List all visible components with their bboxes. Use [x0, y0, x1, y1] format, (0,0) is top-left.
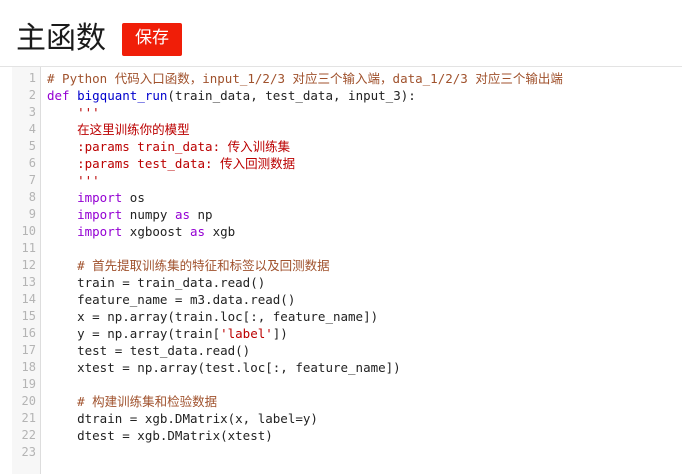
panel-header: 主函数 保存	[0, 0, 682, 66]
code-line[interactable]: test = test_data.read()	[47, 342, 682, 359]
line-number: 14	[12, 291, 36, 308]
code-token-string: :params train_data: 传入训练集	[47, 139, 290, 154]
code-token-comment: # 首先提取训练集的特征和标签以及回测数据	[47, 258, 330, 273]
code-line[interactable]	[47, 444, 682, 461]
code-line[interactable]: # 首先提取训练集的特征和标签以及回测数据	[47, 257, 682, 274]
code-line[interactable]: feature_name = m3.data.read()	[47, 291, 682, 308]
code-token-string: 在这里训练你的模型	[47, 122, 190, 137]
code-token-plain: test = test_data.read()	[47, 343, 250, 358]
code-token-plain: train = train_data.read()	[47, 275, 265, 290]
code-content[interactable]: # Python 代码入口函数，input_1/2/3 对应三个输入端，data…	[41, 67, 682, 474]
code-token-function: bigquant_run	[77, 88, 167, 103]
code-line[interactable]: import xgboost as xgb	[47, 223, 682, 240]
code-token-plain: (train_data, test_data, input_3):	[167, 88, 415, 103]
line-number: 10	[12, 223, 36, 240]
code-line[interactable]	[47, 240, 682, 257]
code-line[interactable]: train = train_data.read()	[47, 274, 682, 291]
code-token-plain: numpy	[130, 207, 175, 222]
code-line[interactable]: :params train_data: 传入训练集	[47, 138, 682, 155]
code-token-string: 'label'	[220, 326, 273, 341]
code-token-plain: xgboost	[130, 224, 190, 239]
line-number: 6	[12, 155, 36, 172]
page-title: 主函数	[16, 22, 106, 56]
line-number-gutter: 1234567891011121314151617181920212223	[12, 67, 41, 474]
code-line[interactable]: # Python 代码入口函数，input_1/2/3 对应三个输入端，data…	[47, 70, 682, 87]
code-token-plain: xgb	[213, 224, 236, 239]
code-token-keyword: import	[47, 190, 130, 205]
line-number: 23	[12, 444, 36, 461]
code-line[interactable]: dtest = xgb.DMatrix(xtest)	[47, 427, 682, 444]
line-number: 22	[12, 427, 36, 444]
code-token-keyword: import	[47, 224, 130, 239]
code-editor[interactable]: 1234567891011121314151617181920212223 # …	[0, 67, 682, 474]
line-number: 8	[12, 189, 36, 206]
code-token-comment: # Python 代码入口函数，input_1/2/3 对应三个输入端，data…	[47, 71, 563, 86]
line-number: 19	[12, 376, 36, 393]
code-token-string: :params test_data: 传入回测数据	[47, 156, 295, 171]
line-number: 17	[12, 342, 36, 359]
code-token-keyword: as	[175, 207, 198, 222]
line-number: 3	[12, 104, 36, 121]
code-line[interactable]: x = np.array(train.loc[:, feature_name])	[47, 308, 682, 325]
line-number: 4	[12, 121, 36, 138]
line-number: 20	[12, 393, 36, 410]
code-token-string: '''	[47, 173, 100, 188]
line-number: 16	[12, 325, 36, 342]
code-token-plain: np	[198, 207, 213, 222]
code-line[interactable]: # 构建训练集和检验数据	[47, 393, 682, 410]
code-editor-panel: 主函数 保存 123456789101112131415161718192021…	[0, 0, 682, 474]
code-line[interactable]	[47, 376, 682, 393]
line-number: 7	[12, 172, 36, 189]
code-token-plain: dtest = xgb.DMatrix(xtest)	[47, 428, 273, 443]
code-token-plain: x = np.array(train.loc[:, feature_name])	[47, 309, 378, 324]
code-token-plain: xtest = np.array(test.loc[:, feature_nam…	[47, 360, 401, 375]
line-number: 13	[12, 274, 36, 291]
code-line[interactable]: y = np.array(train['label'])	[47, 325, 682, 342]
line-number: 18	[12, 359, 36, 376]
line-number: 5	[12, 138, 36, 155]
code-line[interactable]: import os	[47, 189, 682, 206]
code-token-string: '''	[47, 105, 100, 120]
line-number: 11	[12, 240, 36, 257]
line-number: 15	[12, 308, 36, 325]
line-number: 2	[12, 87, 36, 104]
save-button[interactable]: 保存	[122, 23, 182, 56]
code-token-plain: os	[130, 190, 145, 205]
line-number: 21	[12, 410, 36, 427]
code-line[interactable]: import numpy as np	[47, 206, 682, 223]
code-token-plain: dtrain = xgb.DMatrix(x, label=y)	[47, 411, 318, 426]
code-token-keyword: import	[47, 207, 130, 222]
code-line[interactable]: xtest = np.array(test.loc[:, feature_nam…	[47, 359, 682, 376]
code-line[interactable]: '''	[47, 172, 682, 189]
code-token-plain: y = np.array(train[	[47, 326, 220, 341]
code-line[interactable]: def bigquant_run(train_data, test_data, …	[47, 87, 682, 104]
line-number: 9	[12, 206, 36, 223]
code-token-plain: ])	[273, 326, 288, 341]
code-token-plain: feature_name = m3.data.read()	[47, 292, 295, 307]
code-line[interactable]: :params test_data: 传入回测数据	[47, 155, 682, 172]
line-number: 12	[12, 257, 36, 274]
code-token-comment: # 构建训练集和检验数据	[47, 394, 217, 409]
code-line[interactable]: '''	[47, 104, 682, 121]
code-token-keyword: def	[47, 88, 77, 103]
code-token-keyword: as	[190, 224, 213, 239]
line-number: 1	[12, 70, 36, 87]
code-line[interactable]: 在这里训练你的模型	[47, 121, 682, 138]
code-line[interactable]: dtrain = xgb.DMatrix(x, label=y)	[47, 410, 682, 427]
